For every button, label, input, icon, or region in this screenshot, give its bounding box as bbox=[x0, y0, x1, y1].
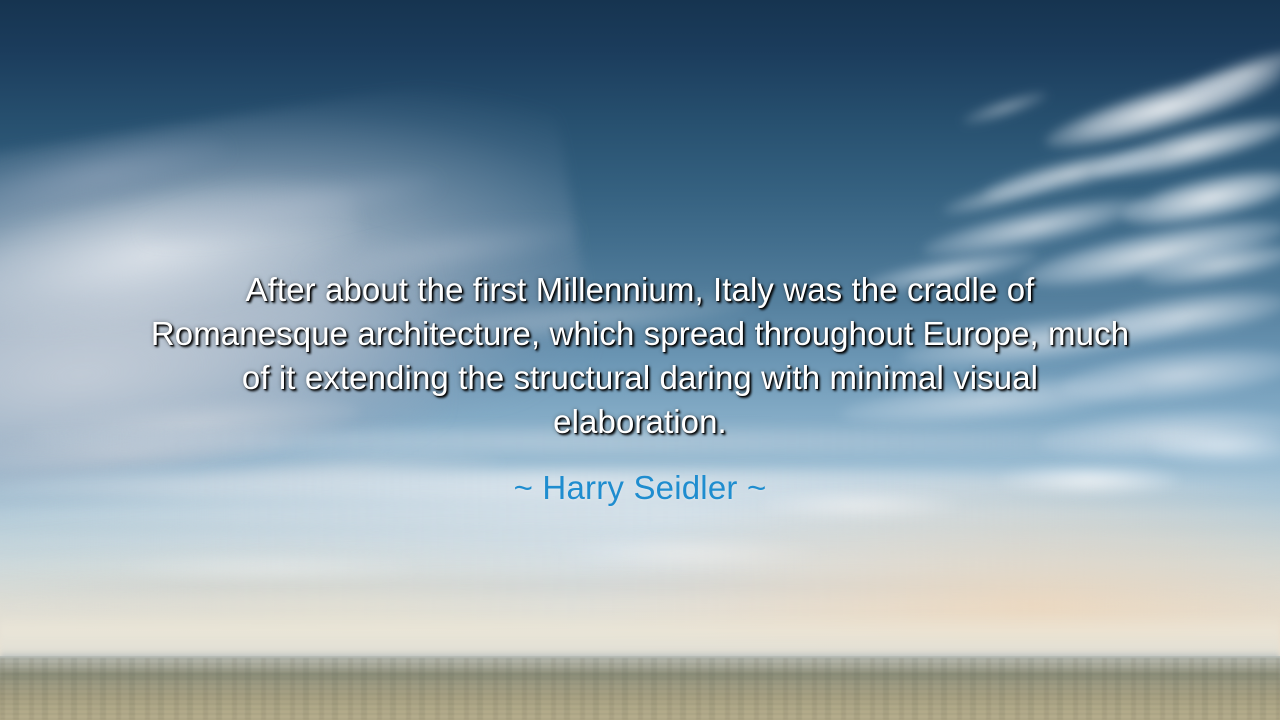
quote-text-layer: After about the first Millennium, Italy … bbox=[0, 0, 1280, 720]
quote-card: After about the first Millennium, Italy … bbox=[0, 0, 1280, 720]
quote-body: After about the first Millennium, Italy … bbox=[40, 268, 1240, 444]
quote-attribution: ~ Harry Seidler ~ bbox=[0, 466, 1280, 510]
